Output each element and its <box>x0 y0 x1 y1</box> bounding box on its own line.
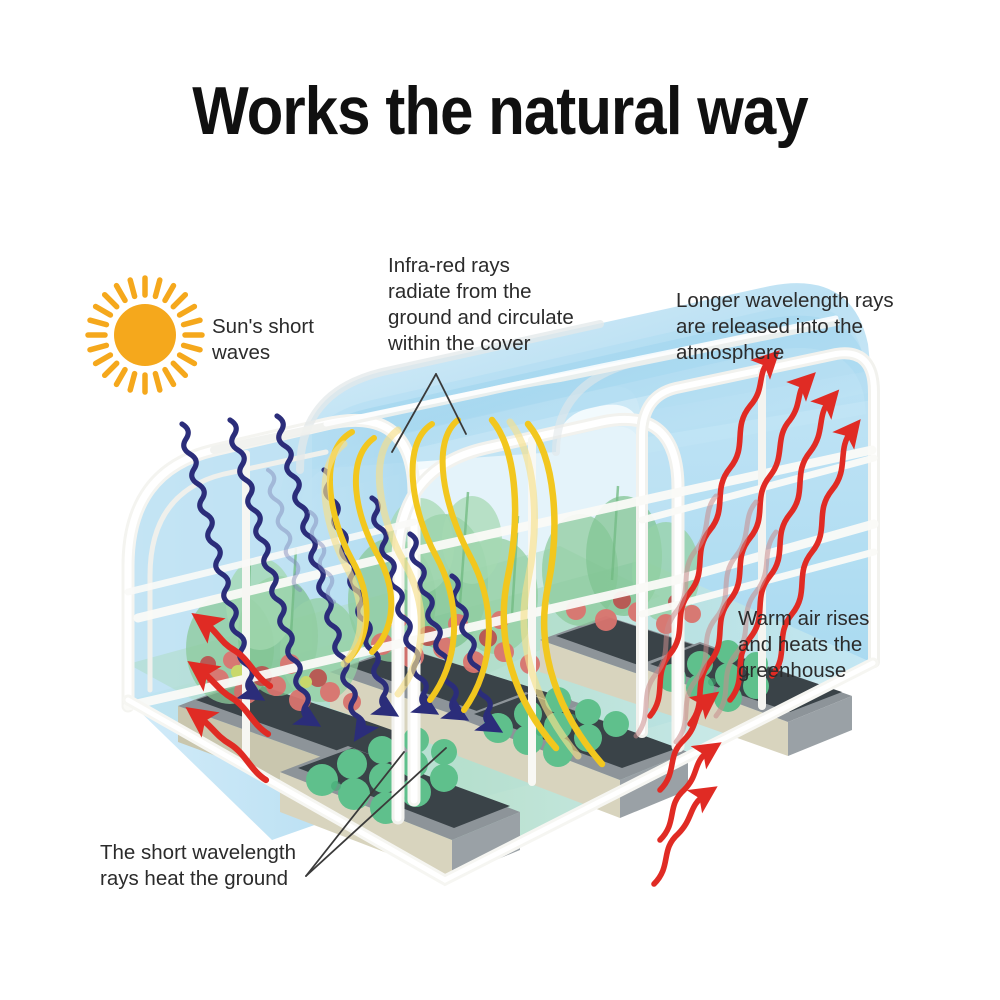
callout-longer-wavelength: Longer wavelength rays are released into… <box>676 288 894 366</box>
sun-icon <box>88 278 202 392</box>
callout-infrared-rays: Infra-red rays radiate from the ground a… <box>388 253 574 357</box>
callout-sun-short-waves: Sun's short waves <box>212 314 314 366</box>
callout-short-wavelength-ground: The short wavelength rays heat the groun… <box>100 840 296 892</box>
infographic-stage: Works the natural way <box>0 0 1000 1000</box>
callout-warm-air-rises: Warm air rises and heats the greenhouse <box>738 606 869 684</box>
